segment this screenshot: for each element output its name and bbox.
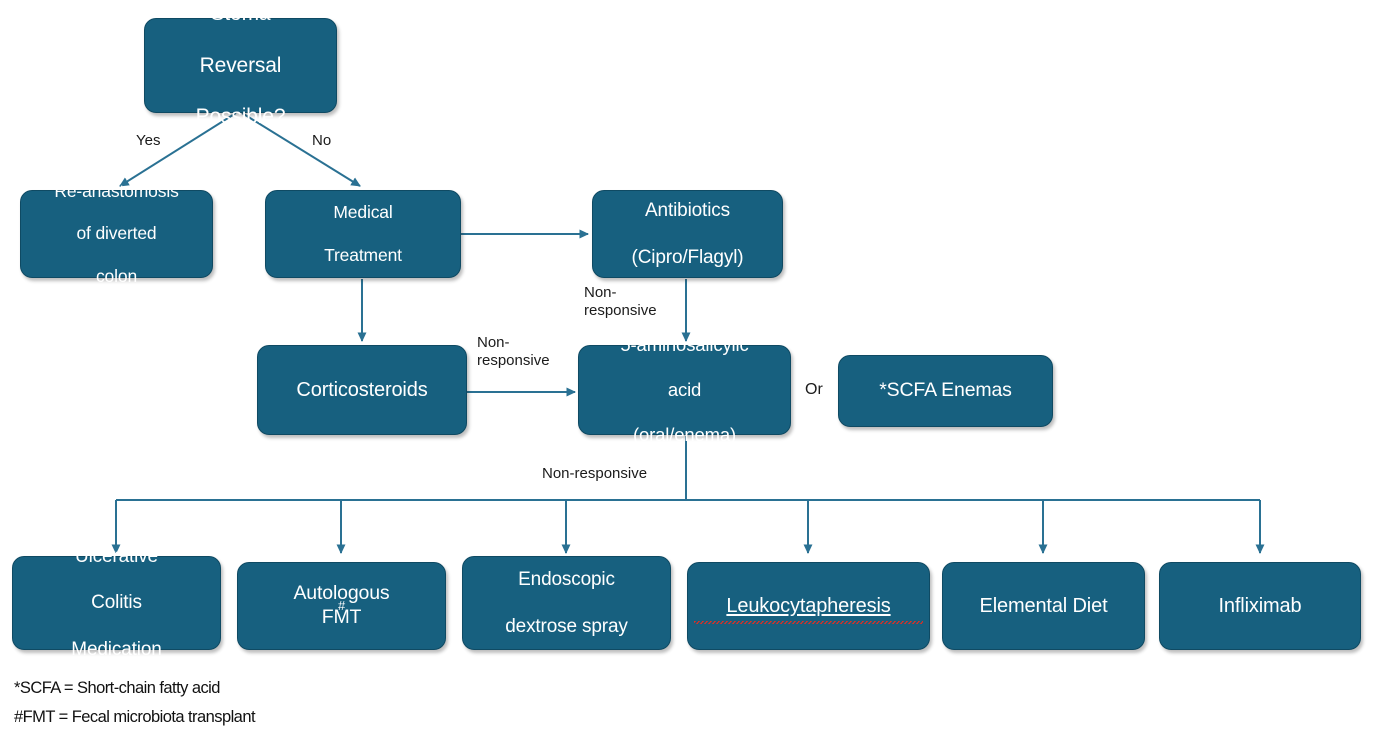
node-label: Elemental Diet [943,594,1144,618]
footnote-fmt: #FMT = Fecal microbiota transplant [14,708,255,727]
edge-label-no: No [312,132,331,150]
node-leukocytapheresis[interactable]: Leukocytapheresis [687,562,930,650]
node-label: 5-aminosalicylicacid(oral/enema) [579,334,790,447]
node-scfa-enemas[interactable]: *SCFA Enemas [838,355,1053,427]
footnote-scfa: *SCFA = Short-chain fatty acid [14,679,220,698]
node-label-line-1: 5-aminosalicylic [585,334,784,357]
edge-label-nonresponsive-asa: Non-responsive [539,465,650,483]
node-re-anastomosis[interactable]: Re-anastomosisof divertedcolon [20,190,213,278]
node-label-line-1: Ulcerative [19,545,214,568]
node-label-line-1: Stoma [151,1,330,27]
node-label-line-1: Endoscopic [469,568,664,591]
node-label: Corticosteroids [258,378,466,402]
node-label: Infliximab [1160,594,1360,618]
edge-label-nonresponsive-antibiotics: Non- responsive [584,284,657,319]
node-label-line-2: (Cipro/Flagyl) [599,246,776,269]
node-label: Antibiotics(Cipro/Flagyl) [593,199,782,269]
node-label-line-2: of diverted [27,223,206,244]
node-label: Re-anastomosisof divertedcolon [21,181,212,288]
node-label-line-1: Infliximab [1166,594,1354,618]
node-label-line-1: Antibiotics [599,199,776,222]
node-label: UlcerativeColitisMedication [13,545,220,661]
edge-label-yes: Yes [136,132,160,150]
node-autologous-fmt[interactable]: Autologous #FMT [237,562,446,650]
node-label-line-3: Possible? [151,104,330,130]
node-label-line-3: Medication [19,638,214,661]
node-label-line-2: Treatment [272,245,454,266]
node-label: MedicalTreatment [266,202,460,266]
node-label: Endoscopicdextrose spray [463,568,670,638]
node-label-suffix: FMT [244,606,439,630]
node-label-line-1: Leukocytapheresis [694,594,923,618]
node-label-line-3: colon [27,266,206,287]
node-elemental-diet[interactable]: Elemental Diet [942,562,1145,650]
edge-label-nonresponsive-corticosteroids: Non- responsive [477,334,550,369]
node-label-line-2: dextrose spray [469,615,664,638]
node-medical-treatment[interactable]: MedicalTreatment [265,190,461,278]
node-label-line-2: Colitis [19,591,214,614]
node-label-line-1: Re-anastomosis [27,181,206,202]
node-label: StomaReversalPossible? [145,1,336,129]
node-label: Autologous #FMT [238,582,445,630]
flowchart-canvas: StomaReversalPossible? Re-anastomosisof … [0,0,1373,743]
node-5-aminosalicylic-acid[interactable]: 5-aminosalicylicacid(oral/enema) [578,345,791,435]
node-antibiotics[interactable]: Antibiotics(Cipro/Flagyl) [592,190,783,278]
node-label-line-3: (oral/enema) [585,424,784,447]
node-label: *SCFA Enemas [839,379,1052,403]
node-label-line-1: Medical [272,202,454,223]
node-label-line-2: acid [585,379,784,402]
node-label-line-1: Corticosteroids [264,378,460,402]
node-label-line-1: Elemental Diet [949,594,1138,618]
edge-label-or: Or [805,381,823,399]
node-label-line-2: Reversal [151,53,330,79]
node-corticosteroids[interactable]: Corticosteroids [257,345,467,435]
node-stoma-reversal-possible[interactable]: StomaReversalPossible? [144,18,337,113]
node-label-line-1: *SCFA Enemas [845,379,1046,403]
node-label: Leukocytapheresis [688,594,929,618]
node-endoscopic-dextrose-spray[interactable]: Endoscopicdextrose spray [462,556,671,650]
node-infliximab[interactable]: Infliximab [1159,562,1361,650]
node-ulcerative-colitis-medication[interactable]: UlcerativeColitisMedication [12,556,221,650]
